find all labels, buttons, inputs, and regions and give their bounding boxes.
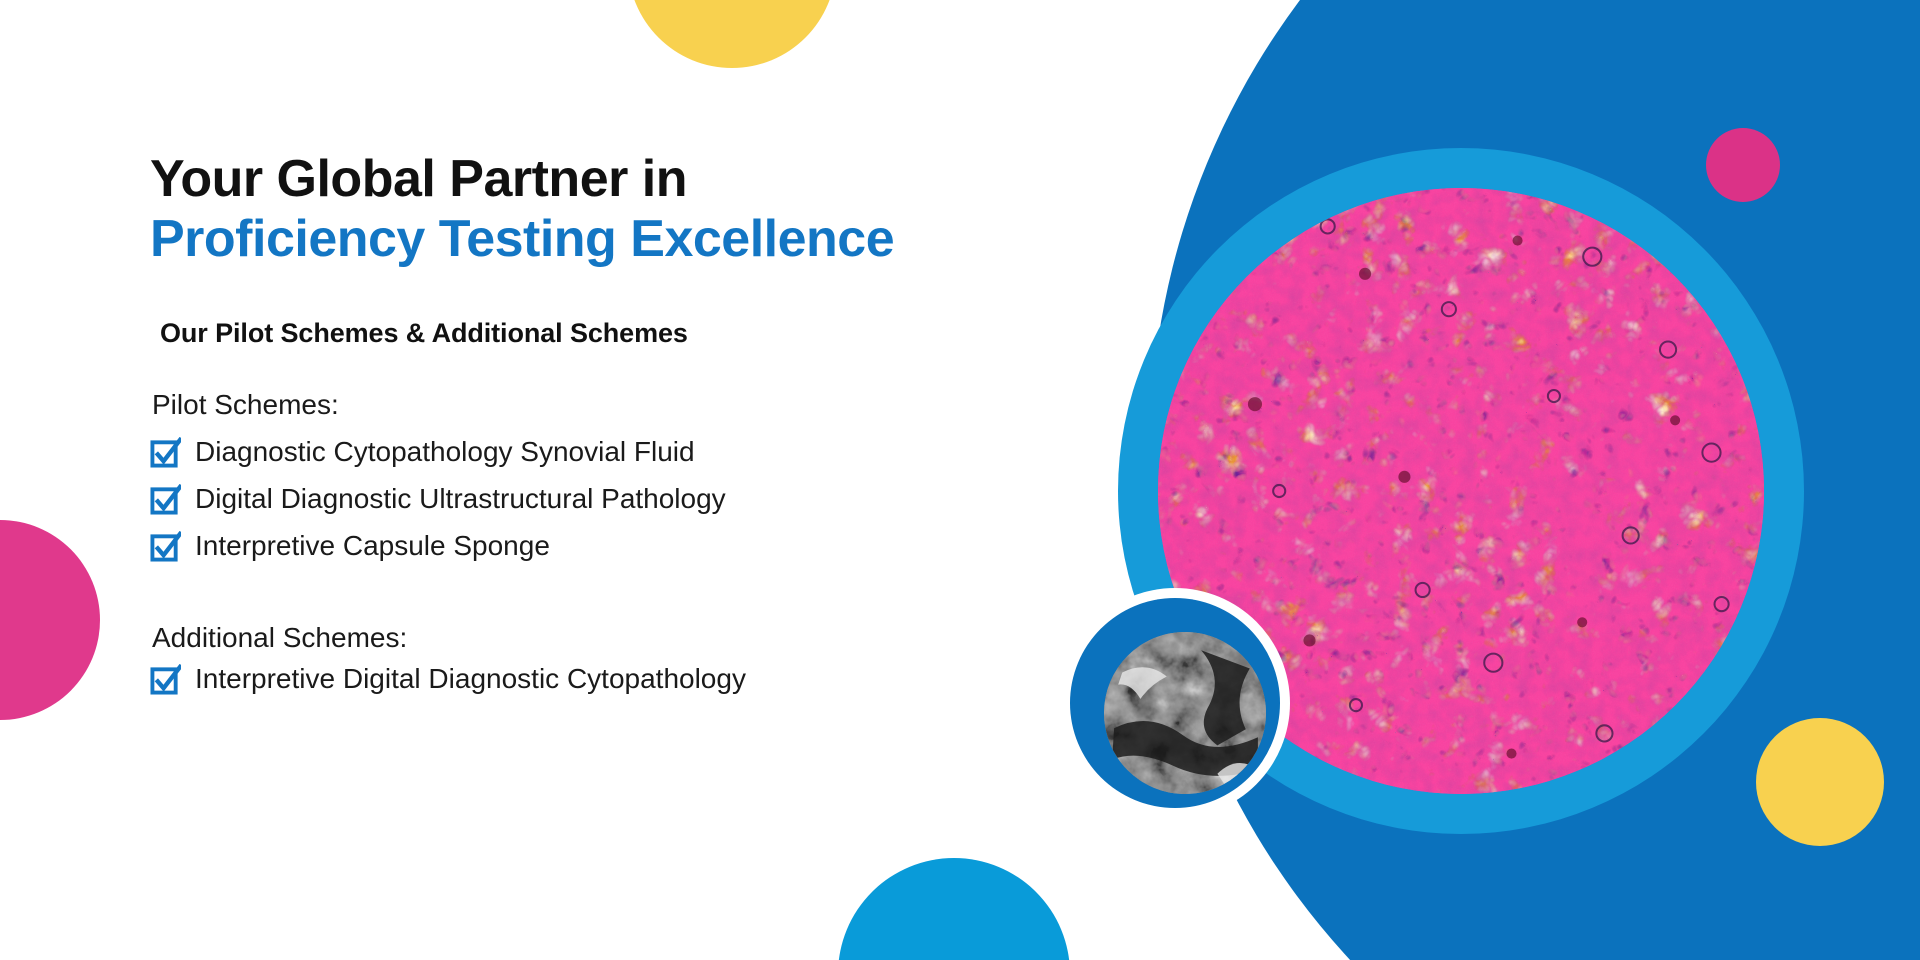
subheading: Our Pilot Schemes & Additional Schemes xyxy=(160,318,990,349)
blue-circle-bottom xyxy=(838,858,1070,960)
inset-image-frame xyxy=(1060,588,1290,818)
yellow-circle-bottom xyxy=(1756,718,1884,846)
checked-checkbox-icon xyxy=(150,664,181,695)
list-item: Interpretive Capsule Sponge xyxy=(150,531,990,562)
yellow-circle-top xyxy=(628,0,836,68)
checked-checkbox-icon xyxy=(150,437,181,468)
pilot-schemes-list: Diagnostic Cytopathology Synovial Fluid … xyxy=(150,437,990,562)
headline-line-1: Your Global Partner in xyxy=(150,150,990,210)
content-column: Your Global Partner in Proficiency Testi… xyxy=(150,150,990,695)
list-item: Diagnostic Cytopathology Synovial Fluid xyxy=(150,437,990,468)
pink-circle-left xyxy=(0,520,100,720)
list-item-label: Interpretive Capsule Sponge xyxy=(195,531,550,562)
list-item: Digital Diagnostic Ultrastructural Patho… xyxy=(150,484,990,515)
promotional-banner: Your Global Partner in Proficiency Testi… xyxy=(0,0,1920,960)
additional-schemes-label: Additional Schemes: xyxy=(152,622,990,654)
list-item-label: Digital Diagnostic Ultrastructural Patho… xyxy=(195,484,726,515)
inset-ring xyxy=(1070,598,1280,808)
list-item-label: Diagnostic Cytopathology Synovial Fluid xyxy=(195,437,695,468)
checked-checkbox-icon xyxy=(150,484,181,515)
pilot-schemes-label: Pilot Schemes: xyxy=(152,389,990,421)
pink-dot-accent xyxy=(1706,128,1780,202)
page-title: Your Global Partner in Proficiency Testi… xyxy=(150,150,990,270)
electron-micrograph-image xyxy=(1104,632,1266,794)
list-item-label: Interpretive Digital Diagnostic Cytopath… xyxy=(195,664,746,695)
headline-line-2: Proficiency Testing Excellence xyxy=(150,210,990,270)
checked-checkbox-icon xyxy=(150,531,181,562)
additional-schemes-list: Interpretive Digital Diagnostic Cytopath… xyxy=(150,664,990,695)
list-item: Interpretive Digital Diagnostic Cytopath… xyxy=(150,664,990,695)
